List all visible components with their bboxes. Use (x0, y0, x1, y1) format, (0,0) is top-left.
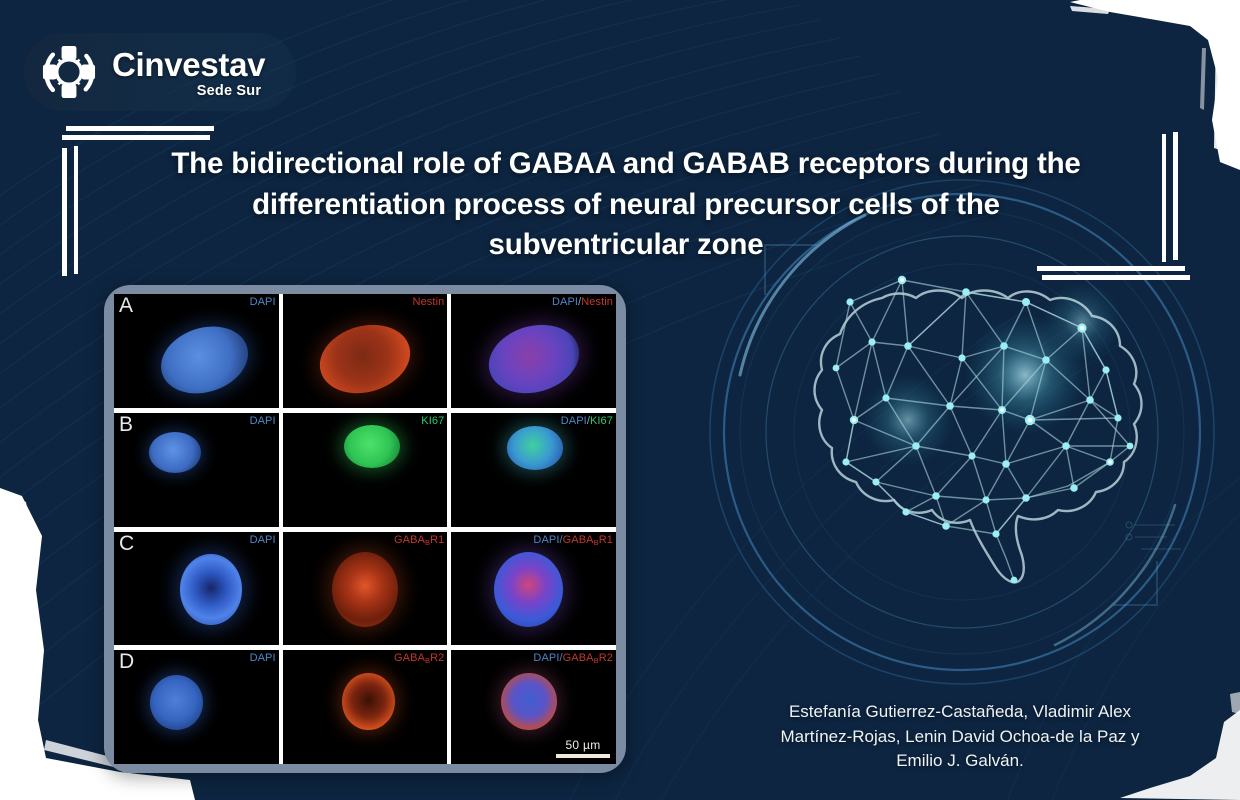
cell-blob (332, 552, 398, 627)
panel-B-ki67: KI67 (283, 413, 448, 527)
panel-letter-C: C (119, 532, 134, 556)
panel-label: DAPI/GABABR1 (533, 534, 613, 546)
cell-blob (501, 673, 557, 730)
panel-D-gababr2: GABABR2 (283, 650, 448, 764)
title-line-2: differentiation process of neural precur… (86, 185, 1166, 226)
title-line-1: The bidirectional role of GABAA and GABA… (86, 144, 1166, 185)
panel-label: DAPI (250, 534, 276, 546)
panel-B-dapi: B DAPI (114, 413, 279, 527)
panel-label: DAPI/Nestin (552, 296, 613, 308)
panel-label: DAPI/KI67 (561, 415, 613, 427)
scale-bar-line (556, 754, 610, 758)
cell-blob (149, 432, 202, 473)
panel-letter-A: A (119, 294, 133, 318)
panel-A-nestin: Nestin (283, 294, 448, 408)
brain-network-illustration (790, 250, 1180, 595)
cell-blob (344, 425, 400, 468)
panel-A-merge: DAPI/Nestin (451, 294, 616, 408)
panel-C-dapi: C DAPI (114, 532, 279, 646)
cinvestav-gear-logo-icon (38, 41, 100, 103)
cell-blob (342, 673, 395, 730)
author-line-1: Estefanía Gutierrez-Castañeda, Vladimir … (700, 700, 1220, 725)
author-list: Estefanía Gutierrez-Castañeda, Vladimir … (700, 700, 1220, 774)
cinvestav-logo-badge: Cinvestav Sede Sur (24, 33, 296, 111)
cell-blob (507, 426, 563, 469)
decor-bar-top-left-1 (66, 126, 214, 131)
panel-C-merge: DAPI/GABABR1 (451, 532, 616, 646)
logo-subtitle: Sede Sur (197, 84, 261, 99)
cell-blob (494, 552, 563, 627)
scale-bar: 50 µm (556, 738, 610, 758)
panel-C-gababr1: GABABR1 (283, 532, 448, 646)
panel-letter-D: D (119, 650, 134, 674)
microscopy-figure-frame: A DAPI Nestin DAPI/Nestin B DAPI KI67 DA… (104, 285, 626, 773)
panel-B-merge: DAPI/KI67 (451, 413, 616, 527)
panel-label: GABABR1 (394, 534, 444, 546)
author-line-3: Emilio J. Galván. (700, 749, 1220, 774)
scale-bar-label: 50 µm (556, 738, 610, 752)
decor-bar-top-left-2 (62, 135, 210, 140)
panel-D-merge: DAPI/GABABR2 50 µm (451, 650, 616, 764)
panel-label: DAPI (250, 652, 276, 664)
microscopy-panel-grid: A DAPI Nestin DAPI/Nestin B DAPI KI67 DA… (114, 294, 616, 764)
cell-blob (180, 554, 243, 625)
panel-label: DAPI (250, 296, 276, 308)
panel-label: GABABR2 (394, 652, 444, 664)
decor-bar-vertical-right-1 (1173, 132, 1178, 260)
cell-blob (150, 675, 203, 730)
presentation-title: The bidirectional role of GABAA and GABA… (86, 144, 1166, 266)
decor-bar-vertical-left-1 (62, 148, 67, 276)
panel-label: Nestin (413, 296, 445, 308)
panel-label: DAPI/GABABR2 (533, 652, 613, 664)
panel-label: KI67 (421, 415, 444, 427)
logo-title: Cinvestav (112, 48, 265, 81)
cell-blob (312, 314, 419, 403)
cell-blob (152, 316, 256, 404)
panel-A-dapi: A DAPI (114, 294, 279, 408)
author-line-2: Martínez-Rojas, Lenin David Ochoa-de la … (700, 725, 1220, 750)
decor-bar-vertical-left-2 (74, 146, 78, 274)
panel-D-dapi: D DAPI (114, 650, 279, 764)
panel-letter-B: B (119, 413, 133, 437)
panel-label: DAPI (250, 415, 276, 427)
cell-blob (480, 314, 587, 403)
